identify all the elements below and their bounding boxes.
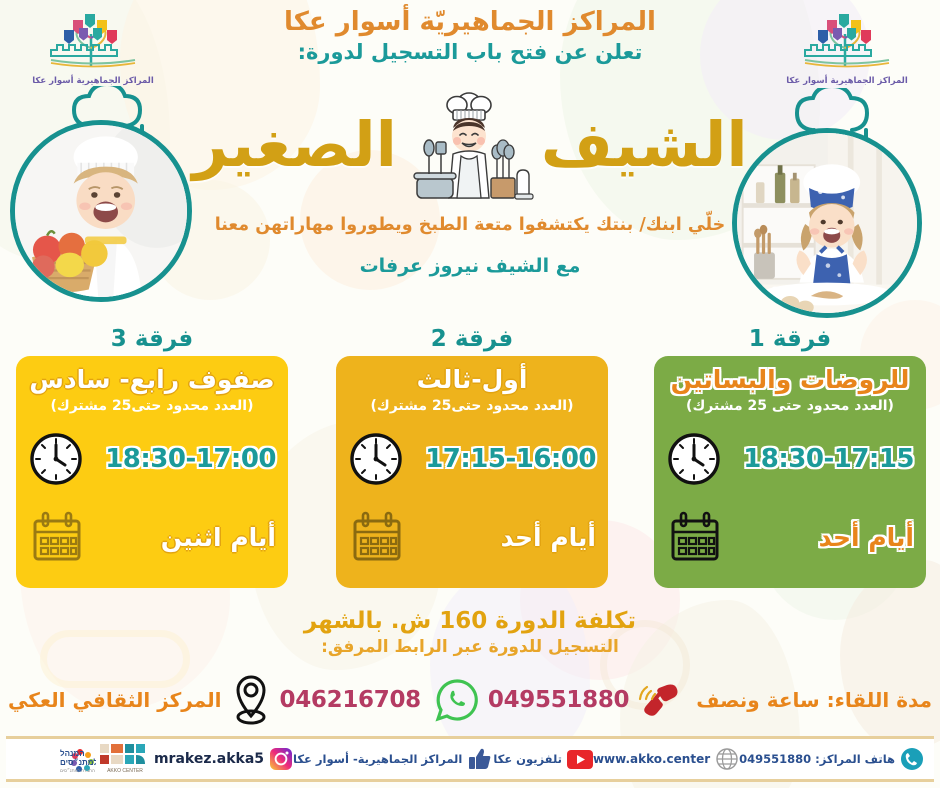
group-label-2: فرقة 2 <box>336 328 608 351</box>
footer-phone-item[interactable]: هاتف المراكز: 049551880 <box>739 747 924 771</box>
course-price: تكلفة الدورة 160 ش. بالشهر <box>0 608 940 634</box>
groups-section: فرقة 1 للروضات والبساتين (العدد محدود حت… <box>14 328 926 610</box>
group-days-2: أيام أحد <box>501 523 596 552</box>
clock-icon <box>666 431 722 487</box>
footer-partner-logo-akko: AKKO CENTER <box>96 742 154 776</box>
youtube-icon <box>567 750 593 769</box>
group-card-1: للروضات والبساتين (العدد محدود حتى 25 مش… <box>654 356 926 588</box>
footer-website: www.akko.center <box>593 752 710 766</box>
globe-icon <box>715 747 739 771</box>
group-days-3: أيام اثنين <box>161 523 276 552</box>
location-item[interactable]: 046216708 المركز الثقافي العكي <box>8 674 421 726</box>
footer-youtube: تلفزيون عكا <box>493 752 562 766</box>
group-time-1: 18:30-17:15 <box>743 444 914 474</box>
calendar-icon <box>666 508 724 566</box>
group-card-3: صفوف رابع- سادس (العدد محدود حتى25 مشترك… <box>16 356 288 588</box>
header-block: المراكز الجماهيريّة أسوار عكا تعلن عن فت… <box>0 8 940 65</box>
announcement-line: تعلن عن فتح باب التسجيل لدورة: <box>0 39 940 65</box>
group-note-2: (العدد محدود حتى25 مشترك) <box>348 398 596 416</box>
footer-facebook-item[interactable]: المراكز الجماهيرية- أسوار عكا <box>293 746 493 772</box>
group-days-row-1: أيام أحد <box>666 499 914 577</box>
contact-row: مدة اللقاء: ساعة ونصف 049551880 04621670… <box>8 672 932 728</box>
photo-left-wrapper <box>10 120 192 302</box>
group-note-3: (العدد محدود حتى25 مشترك) <box>28 398 276 416</box>
svg-text:המנהל: המנהל <box>60 749 85 758</box>
group-label-1: فرقة 1 <box>654 328 926 351</box>
group-note-1: (العدد محدود حتى 25 مشترك) <box>666 398 914 416</box>
group-time-2: 17:15-16:00 <box>425 444 596 474</box>
group-card-2: أول-ثالث (العدد محدود حتى25 مشترك) 17:15… <box>336 356 608 588</box>
svg-text:למתנ״סים: למתנ״סים <box>60 758 96 767</box>
duration-item: مدة اللقاء: ساعة ونصف <box>696 688 932 712</box>
group-days-row-2: أيام أحد <box>348 499 596 577</box>
meeting-duration: مدة اللقاء: ساعة ونصف <box>696 688 932 712</box>
footer-centers-phone: هاتف المراكز: 049551880 <box>739 752 895 766</box>
footer-website-item[interactable]: www.akko.center <box>593 747 739 771</box>
location-pin-icon <box>230 674 272 726</box>
group-title-1: للروضات والبساتين <box>666 366 914 394</box>
price-section: تكلفة الدورة 160 ش. بالشهر التسجيل للدور… <box>0 608 940 657</box>
registration-note: التسجيل للدورة عبر الرابط المرفق: <box>0 637 940 657</box>
group-column-1: فرقة 1 للروضات والبساتين (العدد محدود حت… <box>654 328 926 588</box>
whatsapp-icon[interactable] <box>434 677 480 723</box>
group-days-1: أيام أحد <box>819 523 914 552</box>
title-word-right: الشيف <box>541 114 748 176</box>
poster-root: المراكز الجماهيرية أسوار عكا ا <box>0 0 940 788</box>
chef-boy-illustration-icon <box>403 86 535 204</box>
logo-left-caption: المراكز الجماهيرية أسوار عكا <box>18 76 168 86</box>
landline-number: 046216708 <box>280 687 421 713</box>
group-title-2: أول-ثالث <box>348 366 596 394</box>
calendar-icon <box>28 508 86 566</box>
footer-instagram-handle: mrakez.akka5 <box>154 751 264 767</box>
phone-item[interactable]: 049551880 <box>434 677 683 723</box>
akko-center-logo-icon: AKKO CENTER <box>96 742 154 776</box>
photo-child-chef-fruit <box>10 120 192 302</box>
group-time-row-1: 18:30-17:15 <box>666 421 914 497</box>
group-days-row-3: أيام اثنين <box>28 499 276 577</box>
clock-icon <box>348 431 404 487</box>
group-column-2: فرقة 2 أول-ثالث (العدد محدود حتى25 مشترك… <box>336 328 608 588</box>
footer-youtube-item[interactable]: تلفزيون عكا <box>493 750 593 769</box>
venue-name: المركز الثقافي العكي <box>8 688 222 712</box>
community-centers-logo-icon: המנהל למתנ״סים החברה למתנ״סים <box>4 744 96 774</box>
footer-partner-logo-matnasim: המנהל למתנ״סים החברה למתנ״סים <box>4 744 96 774</box>
footer-bar: هاتف المراكز: 049551880 www.akko.center … <box>6 736 934 782</box>
group-time-row-3: 18:30-17:00 <box>28 421 276 497</box>
svg-text:AKKO CENTER: AKKO CENTER <box>107 768 143 774</box>
logo-right-caption: المراكز الجماهيرية أسوار عكا <box>772 76 922 86</box>
calendar-icon <box>348 508 406 566</box>
photo-right-wrapper <box>732 128 922 318</box>
phone-icon <box>637 679 683 721</box>
title-word-left: الصغير <box>192 114 397 176</box>
photo-girl-chef-baking <box>732 128 922 318</box>
group-label-3: فرقة 3 <box>16 328 288 351</box>
group-time-3: 18:30-17:00 <box>105 444 276 474</box>
instagram-icon <box>269 747 293 771</box>
svg-text:החברה למתנ״סים: החברה למתנ״סים <box>60 768 95 773</box>
footer-instagram-item[interactable]: mrakez.akka5 <box>154 747 293 771</box>
clock-icon <box>28 431 84 487</box>
whatsapp-number: 049551880 <box>488 687 629 713</box>
group-column-3: فرقة 3 صفوف رابع- سادس (العدد محدود حتى2… <box>16 328 288 588</box>
thumbs-up-icon <box>467 746 493 772</box>
phone-circle-icon <box>900 747 924 771</box>
footer-facebook: المراكز الجماهيرية- أسوار عكا <box>293 752 462 766</box>
group-time-row-2: 17:15-16:00 <box>348 421 596 497</box>
organization-name: المراكز الجماهيريّة أسوار عكا <box>0 8 940 37</box>
group-title-3: صفوف رابع- سادس <box>28 366 276 394</box>
